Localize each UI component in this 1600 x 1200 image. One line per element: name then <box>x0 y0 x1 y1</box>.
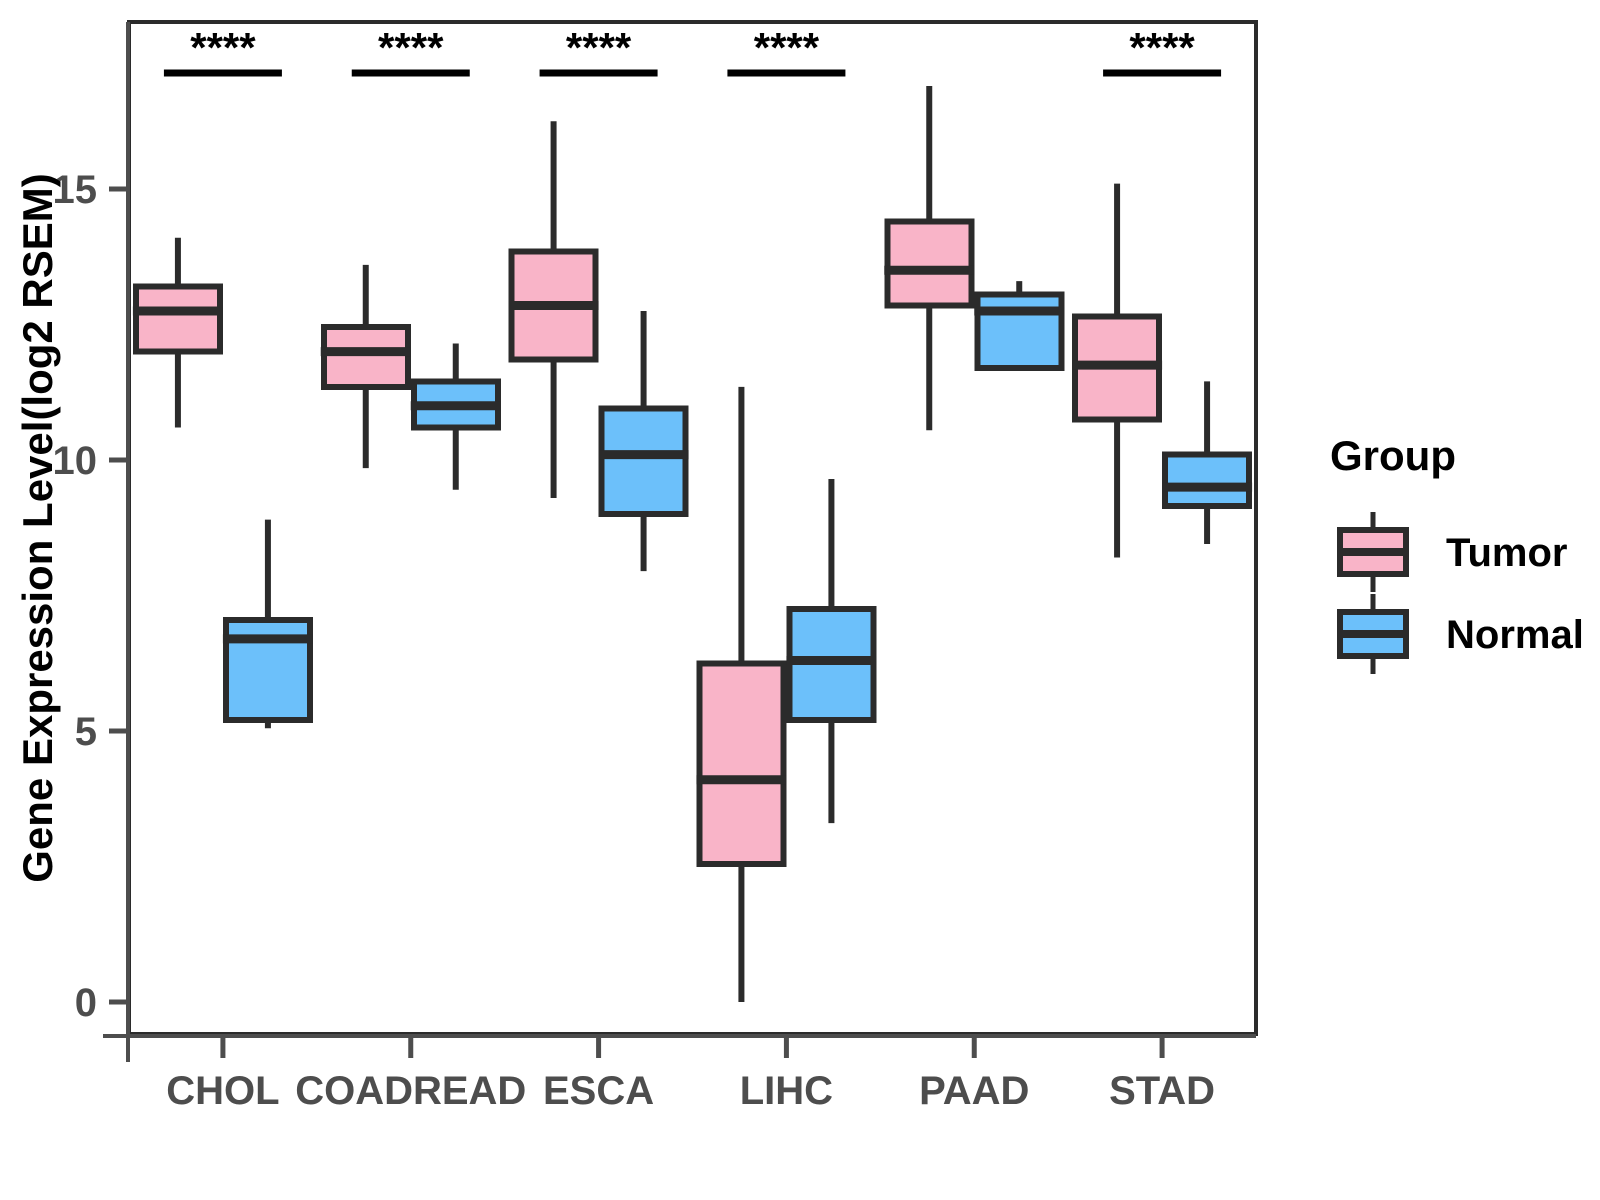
significance-label: **** <box>1129 24 1195 71</box>
x-tick-label-chol: CHOL <box>166 1069 279 1113</box>
box-rect <box>324 327 408 387</box>
legend-label-tumor: Tumor <box>1446 531 1567 575</box>
box-rect <box>602 409 686 515</box>
panel-border <box>129 22 1256 1034</box>
x-tick-label-esca: ESCA <box>543 1069 654 1113</box>
legend-label-normal: Normal <box>1446 613 1584 657</box>
x-tick-label-stad: STAD <box>1109 1069 1215 1113</box>
box-rect <box>977 295 1061 368</box>
box-plot-normal-paad <box>974 281 1064 368</box>
significance-label: **** <box>378 24 444 71</box>
box-rect <box>1165 455 1249 506</box>
significance-label: **** <box>754 24 820 71</box>
y-axis-title: Gene Expression Level(log2 RSEM) <box>14 173 61 883</box>
box-rect <box>136 287 220 352</box>
plot-panel <box>129 22 1256 1034</box>
box-rect <box>699 663 783 864</box>
y-tick-label: 0 <box>75 981 97 1025</box>
significance-label: **** <box>190 24 256 71</box>
significance-label: **** <box>566 24 632 71</box>
boxplot-figure: ******************** 051015CHOLCOADREADE… <box>0 0 1600 1200</box>
legend-item-normal[interactable]: Normal <box>1337 594 1584 674</box>
x-tick-label-coadread: COADREAD <box>295 1069 526 1113</box>
x-tick-label-paad: PAAD <box>919 1069 1029 1113</box>
chart-canvas: ******************** 051015CHOLCOADREADE… <box>0 0 1600 1200</box>
legend-item-tumor[interactable]: Tumor <box>1337 512 1567 592</box>
box-rect <box>887 222 971 306</box>
legend-title: Group <box>1330 432 1456 479</box>
x-tick-label-lihc: LIHC <box>740 1069 833 1113</box>
legend: GroupTumorNormal <box>1330 432 1584 674</box>
y-tick-label: 5 <box>75 710 97 754</box>
